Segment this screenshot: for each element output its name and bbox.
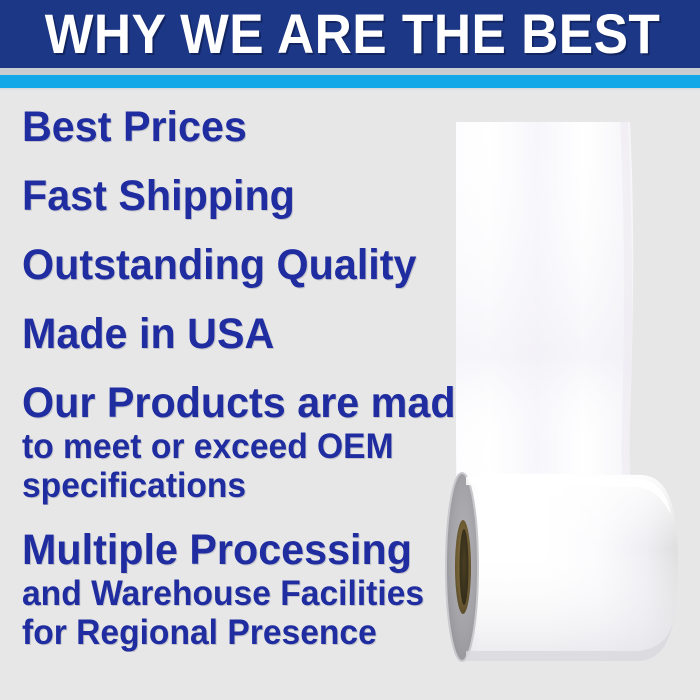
roll-body-shading <box>462 473 678 661</box>
benefits-list: Best Prices Fast Shipping Outstanding Qu… <box>22 104 442 674</box>
benefit-headline: Fast Shipping <box>22 173 425 220</box>
benefit-headline: Best Prices <box>22 104 425 151</box>
benefit-item-fast-shipping: Fast Shipping <box>22 173 442 220</box>
roll-core-hole <box>460 529 469 605</box>
header-banner: WHY WE ARE THE BEST <box>0 0 700 68</box>
benefit-item-outstanding-quality: Outstanding Quality <box>22 242 442 289</box>
benefit-sub-line: to meet or exceed OEM <box>22 427 425 466</box>
benefit-item-oem-specifications: Our Products are made to meet or exceed … <box>22 380 442 505</box>
paper-roll-image <box>430 95 690 685</box>
page-title: WHY WE ARE THE BEST <box>45 6 661 62</box>
benefit-item-best-prices: Best Prices <box>22 104 442 151</box>
benefit-headline: Made in USA <box>22 311 425 358</box>
paper-roll-graphic <box>430 95 690 685</box>
benefit-sub-line: and Warehouse Facilities <box>22 574 425 613</box>
header-accent-shadow <box>0 88 700 91</box>
benefit-headline: Multiple Processing <box>22 527 425 574</box>
benefit-headline: Outstanding Quality <box>22 242 425 289</box>
benefit-item-processing-warehouse: Multiple Processing and Warehouse Facili… <box>22 527 442 652</box>
benefit-sub-line: specifications <box>22 466 425 505</box>
benefit-headline: Our Products are made <box>22 380 425 427</box>
poster-canvas: WHY WE ARE THE BEST Best Prices Fast Shi… <box>0 0 700 700</box>
header-accent-bar <box>0 75 700 88</box>
benefit-sub-line: for Regional Presence <box>22 613 425 652</box>
header-gray-strip <box>0 68 700 75</box>
benefit-item-made-in-usa: Made in USA <box>22 311 442 358</box>
